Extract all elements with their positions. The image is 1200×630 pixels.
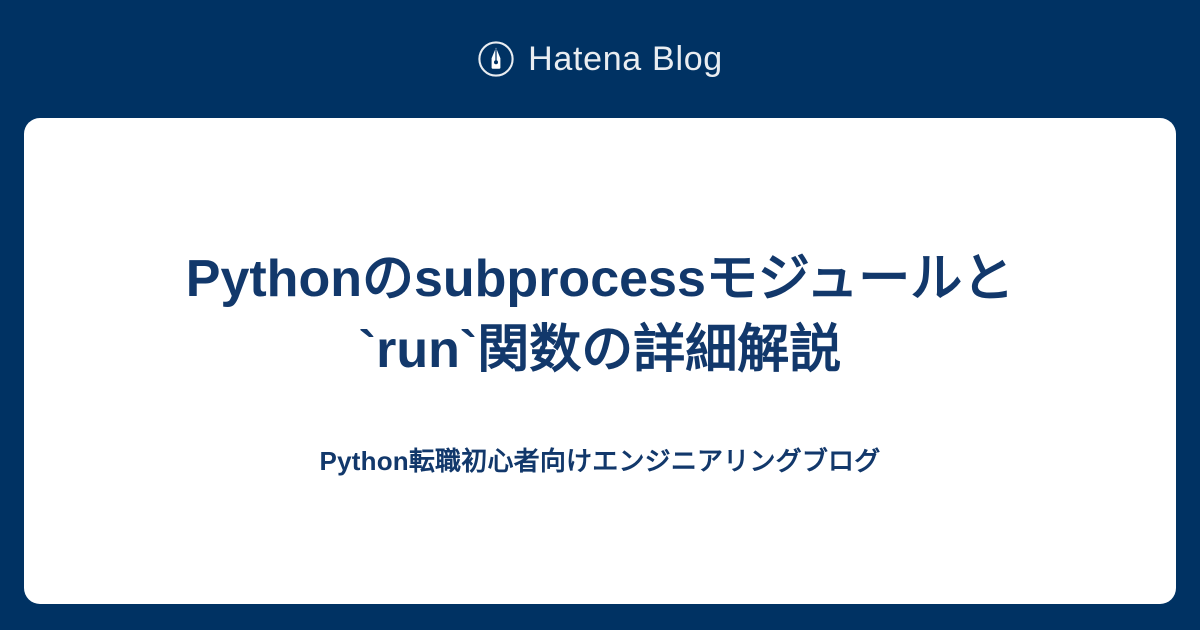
entry-title: Pythonのsubprocessモジュールと`run`関数の詳細解説: [180, 244, 1020, 386]
entry-card: Pythonのsubprocessモジュールと`run`関数の詳細解説 Pyth…: [24, 118, 1176, 604]
hatena-pen-nib-circle-icon: [477, 40, 515, 78]
social-share-card: Hatena Blog Pythonのsubprocessモジュールと`run`…: [0, 0, 1200, 630]
brand-header: Hatena Blog: [0, 0, 1200, 118]
brand-name: Hatena Blog: [528, 42, 723, 76]
blog-subtitle: Python転職初心者向けエンジニアリングブログ: [320, 446, 881, 477]
